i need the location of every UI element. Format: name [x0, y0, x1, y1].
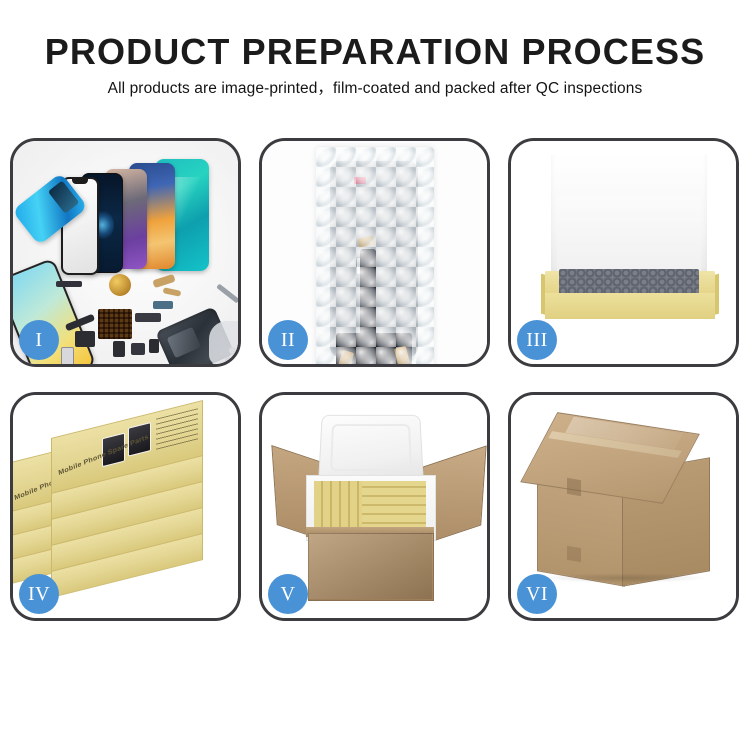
step-badge-2: II	[268, 320, 308, 360]
camera-module-part	[75, 331, 95, 347]
box-lid-spec-lines-2	[156, 408, 198, 452]
step-badge-5: V	[268, 574, 308, 614]
boxes-inside-carton	[314, 481, 426, 531]
sim-tray-part	[61, 347, 74, 364]
process-steps-grid: I II	[10, 138, 740, 621]
box-foam-panel	[557, 197, 701, 275]
foam-lid-open	[318, 415, 424, 482]
step-badge-3: III	[517, 320, 557, 360]
yellow-boxes-horizontal-group	[362, 481, 426, 531]
connector-part-1	[135, 313, 161, 322]
page-subtitle: All products are image-printed，film-coat…	[0, 76, 750, 102]
carton-body-shading	[308, 533, 432, 599]
page-title: PRODUCT PREPARATION PROCESS	[0, 30, 750, 74]
vibration-motor-part	[109, 274, 131, 296]
process-step-panel-1[interactable]: I	[10, 138, 241, 367]
chip-array-part	[98, 309, 132, 339]
process-step-panel-6[interactable]: VI	[508, 392, 739, 621]
small-component-3	[149, 339, 159, 353]
page-header: PRODUCT PREPARATION PROCESS All products…	[0, 0, 750, 102]
connector-part-2	[153, 301, 173, 309]
box-tray-front	[545, 293, 715, 319]
yellow-boxes-vertical-group	[314, 481, 362, 531]
hand-holding-part	[209, 321, 238, 364]
process-step-panel-3[interactable]: III	[508, 138, 739, 367]
step-badge-6: VI	[517, 574, 557, 614]
process-step-panel-2[interactable]: II	[259, 138, 490, 367]
small-component-1	[113, 341, 125, 357]
small-component-2	[131, 343, 145, 355]
bubble-wrap-package	[316, 147, 434, 364]
process-step-panel-4[interactable]: Mobile Phone Spare Parts Mobile Phone Sp…	[10, 392, 241, 621]
wrapped-item-in-box	[559, 269, 699, 295]
carton-ground-shadow	[537, 573, 709, 583]
process-step-panel-5[interactable]: V	[259, 392, 490, 621]
carton-seam-upper	[567, 478, 581, 496]
earpiece-speaker-part	[56, 281, 82, 287]
step-badge-4: IV	[19, 574, 59, 614]
bubble-texture-overlay	[316, 147, 434, 364]
step-badge-1: I	[19, 320, 59, 360]
carton-seam-lower	[567, 546, 581, 562]
